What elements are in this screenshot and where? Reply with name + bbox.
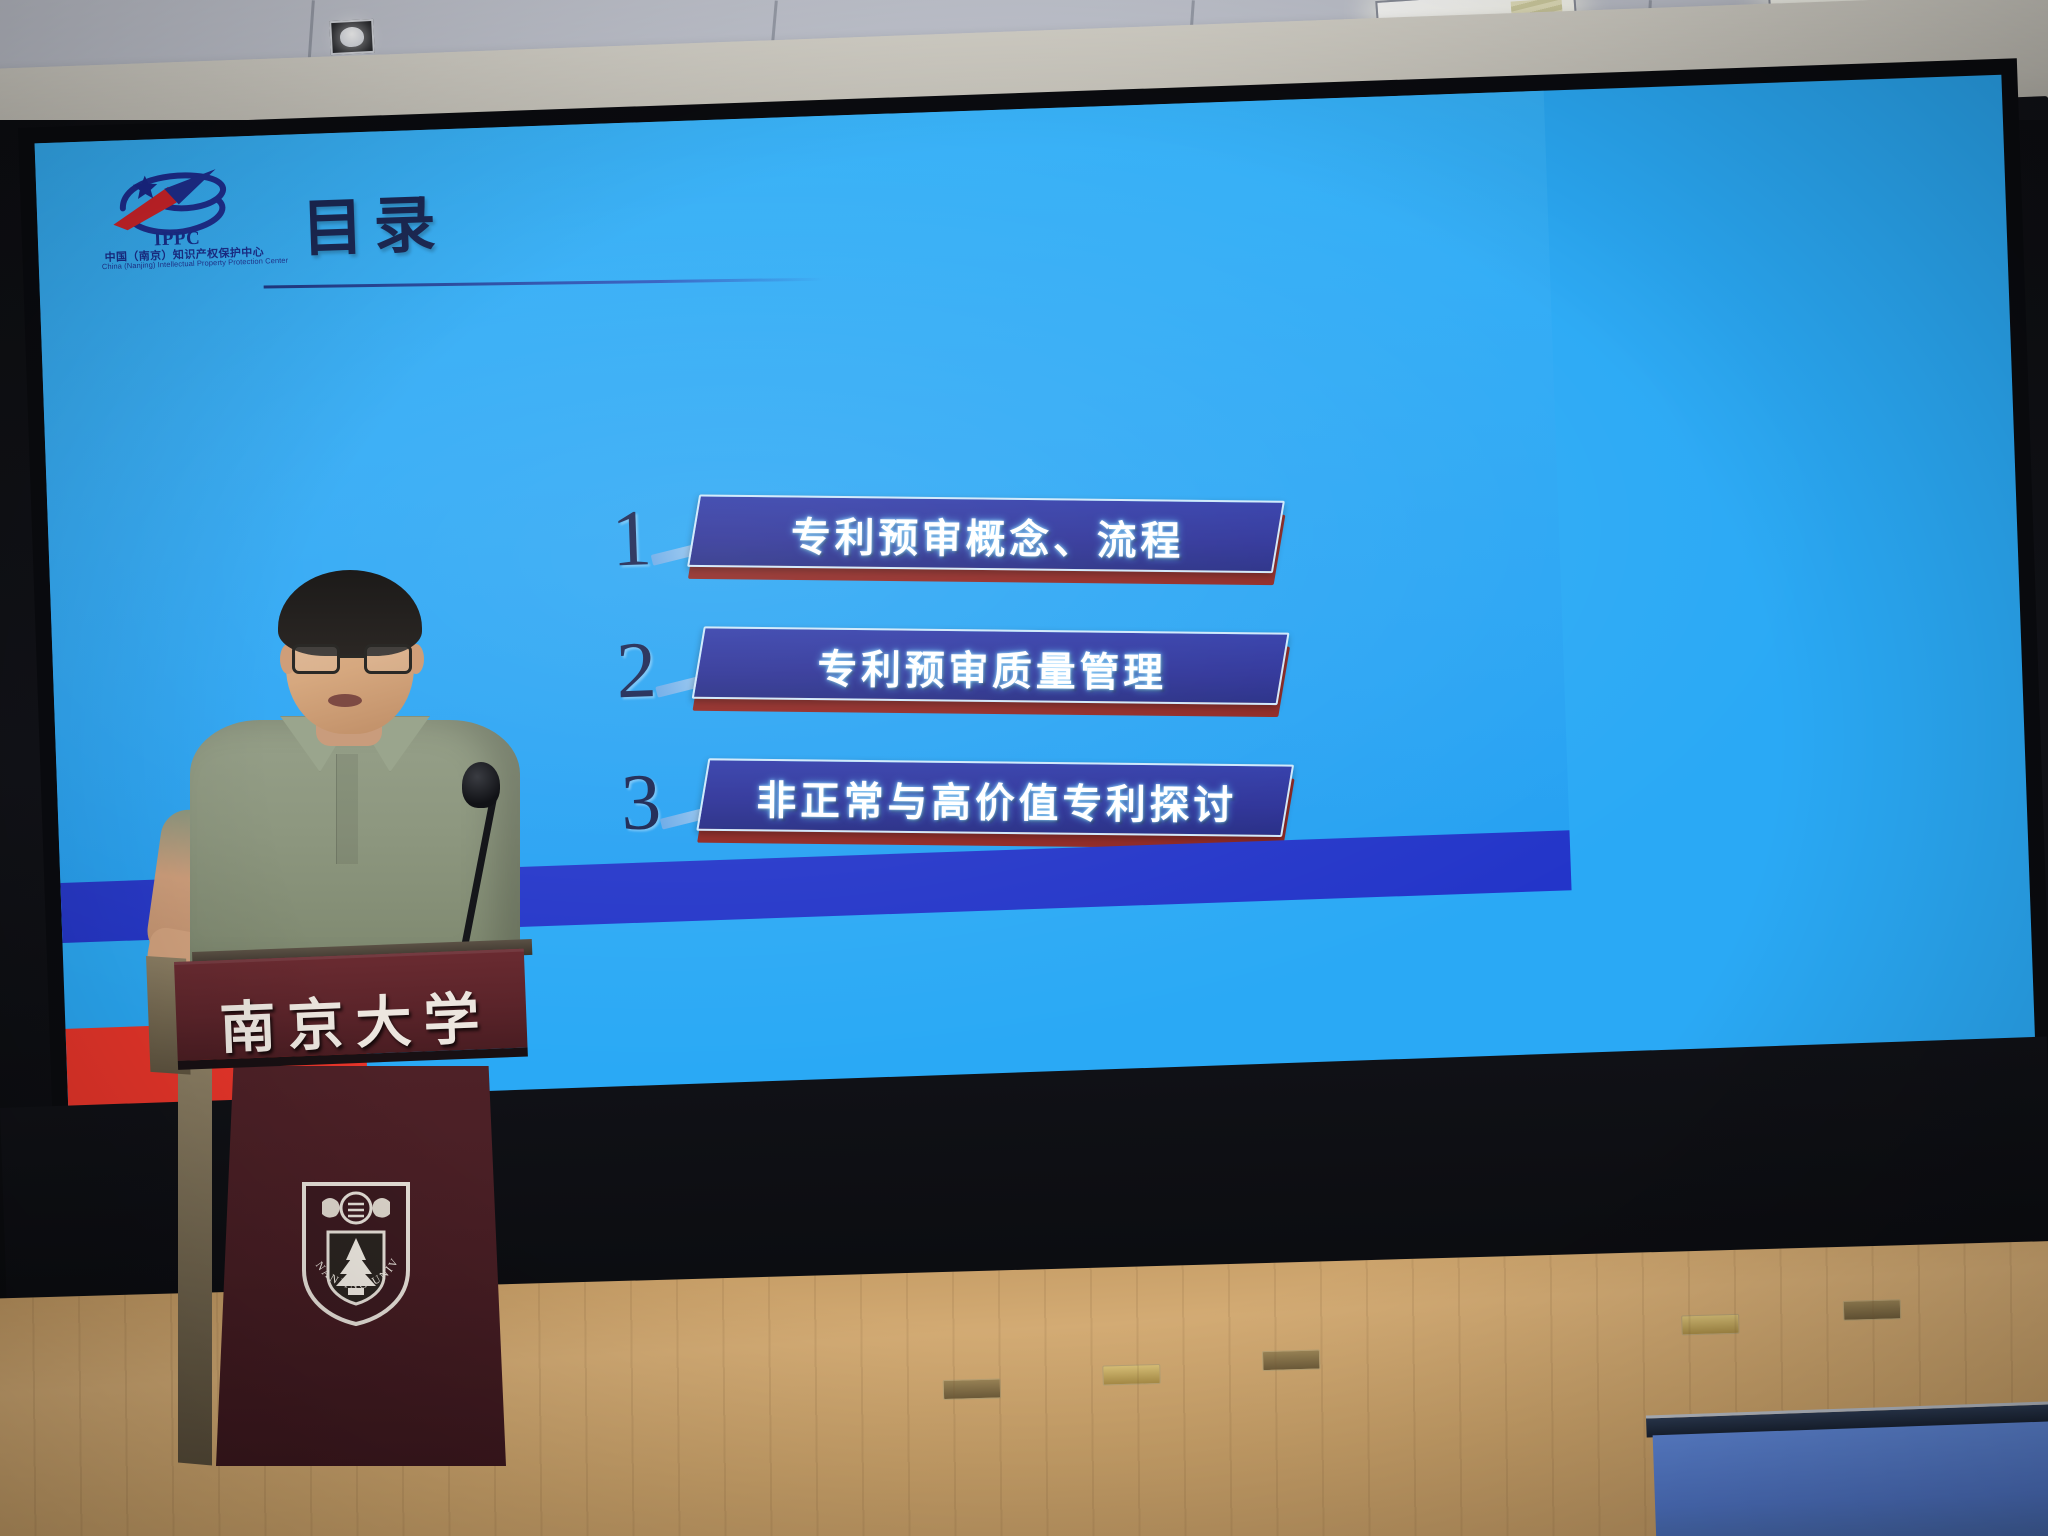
floor-insert <box>1843 1299 1902 1321</box>
eyeglasses-icon <box>292 644 412 674</box>
polo-placket <box>336 754 358 864</box>
toc-bar[interactable]: 专利预审质量管理 <box>692 626 1290 705</box>
spot-light <box>329 19 375 55</box>
slide-title: 目录 <box>300 173 447 268</box>
floor-insert <box>1102 1364 1161 1386</box>
toc-bar[interactable]: 专利预审概念、流程 <box>687 494 1285 573</box>
floor-insert <box>1681 1314 1740 1336</box>
podium: 南京大学 NANJING UNIVERSITY <box>150 928 550 1536</box>
presentation-scene: IPPC 中国（南京）知识产权保护中心 China (Nanjing) Inte… <box>0 0 2048 1536</box>
podium-name-plate: 南京大学 <box>218 974 491 1065</box>
podium-leg <box>178 1061 212 1466</box>
toc-label: 专利预审概念、流程 <box>694 496 1281 575</box>
microphone-icon <box>462 762 500 808</box>
speaker-mouth <box>328 694 362 707</box>
toc-label: 专利预审质量管理 <box>699 628 1286 707</box>
toc-item[interactable]: 3 非正常与高价值专利探讨 <box>596 730 1359 852</box>
toc-number: 2 <box>592 629 681 712</box>
front-table <box>1645 1379 2048 1536</box>
toc-bar[interactable]: 非正常与高价值专利探讨 <box>696 758 1294 837</box>
ippc-logo: IPPC 中国（南京）知识产权保护中心 China (Nanjing) Inte… <box>97 163 269 277</box>
toc-label: 非正常与高价值专利探讨 <box>704 760 1291 839</box>
toc-number: 1 <box>587 497 676 580</box>
table-skirt <box>1653 1421 2048 1536</box>
title-underline <box>264 278 824 289</box>
toc-item[interactable]: 1 专利预审概念、流程 <box>587 466 1350 588</box>
floor-insert <box>1262 1349 1321 1371</box>
nanjing-university-crest-icon: NANJING UNIVERSITY <box>298 1178 414 1328</box>
floor-insert <box>943 1378 1002 1400</box>
toc-number: 3 <box>597 761 686 844</box>
speaker <box>176 548 536 968</box>
toc-item[interactable]: 2 专利预审质量管理 <box>592 598 1355 720</box>
